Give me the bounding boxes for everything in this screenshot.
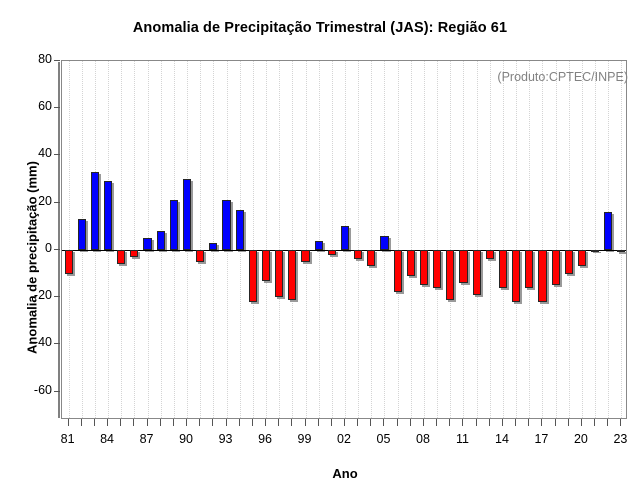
x-tick-mark <box>370 419 371 426</box>
x-tick-mark <box>252 419 253 426</box>
bar <box>236 210 244 250</box>
x-tick-mark <box>81 419 82 426</box>
y-tick-mark <box>54 202 60 203</box>
x-tick-mark <box>107 419 108 426</box>
gridline-vertical <box>69 61 70 418</box>
x-tick-mark <box>120 419 121 426</box>
page-title: Anomalia de Precipitação Trimestral (JAS… <box>0 20 640 36</box>
bar <box>565 250 573 274</box>
bar <box>315 241 323 250</box>
bar <box>143 238 151 250</box>
gridline-vertical <box>306 61 307 418</box>
bar <box>262 250 270 281</box>
y-tick-label: 40 <box>0 146 52 160</box>
gridline-vertical <box>490 61 491 418</box>
gridline-vertical <box>292 61 293 418</box>
bar <box>328 250 336 255</box>
x-tick-mark <box>357 419 358 426</box>
gridline-vertical <box>424 61 425 418</box>
bar <box>78 219 86 250</box>
x-tick-mark <box>555 419 556 426</box>
y-tick-mark <box>54 296 60 297</box>
bar <box>104 181 112 249</box>
x-tick-mark <box>94 419 95 426</box>
gridline-vertical <box>319 61 320 418</box>
x-tick-label: 11 <box>442 432 482 446</box>
bar <box>341 226 349 250</box>
x-tick-mark <box>318 419 319 426</box>
bar <box>222 200 230 250</box>
x-tick-mark <box>515 419 516 426</box>
gridline-vertical <box>266 61 267 418</box>
x-tick-mark <box>502 419 503 426</box>
gridline-vertical <box>621 61 622 418</box>
bar <box>354 250 362 259</box>
x-tick-mark <box>212 419 213 426</box>
x-tick-mark <box>278 419 279 426</box>
y-tick-mark <box>54 60 60 61</box>
gridline-vertical <box>200 61 201 418</box>
x-tick-mark <box>462 419 463 426</box>
y-axis-spine <box>58 62 60 418</box>
bar <box>249 250 257 302</box>
x-tick-label: 20 <box>561 432 601 446</box>
gridline-vertical <box>463 61 464 418</box>
bar <box>196 250 204 262</box>
bar <box>538 250 546 302</box>
bar <box>604 212 612 250</box>
x-tick-label: 05 <box>363 432 403 446</box>
y-tick-label: 60 <box>0 99 52 113</box>
gridline-vertical <box>437 61 438 418</box>
gridline-vertical <box>398 61 399 418</box>
bar <box>512 250 520 302</box>
bar <box>552 250 560 285</box>
y-tick-mark <box>54 249 60 250</box>
x-tick-mark <box>541 419 542 426</box>
x-tick-label: 81 <box>48 432 88 446</box>
bar <box>130 250 138 257</box>
gridline-vertical <box>542 61 543 418</box>
bar <box>459 250 467 283</box>
x-tick-label: 08 <box>403 432 443 446</box>
x-tick-mark <box>489 419 490 426</box>
gridline-vertical <box>503 61 504 418</box>
bar <box>525 250 533 288</box>
x-tick-mark <box>186 419 187 426</box>
bar <box>420 250 428 285</box>
gridline-vertical <box>121 61 122 418</box>
gridline-vertical <box>569 61 570 418</box>
x-tick-mark <box>265 419 266 426</box>
x-tick-mark <box>528 419 529 426</box>
gridline-vertical <box>411 61 412 418</box>
bar <box>65 250 73 274</box>
x-tick-label: 02 <box>324 432 364 446</box>
y-tick-label: 0 <box>0 241 52 255</box>
x-tick-label: 90 <box>166 432 206 446</box>
bar <box>288 250 296 300</box>
gridline-vertical <box>450 61 451 418</box>
bar-shadow <box>593 252 601 254</box>
x-tick-mark <box>449 419 450 426</box>
x-tick-label: 14 <box>482 432 522 446</box>
bar <box>486 250 494 259</box>
x-tick-mark <box>68 419 69 426</box>
y-tick-label: -40 <box>0 335 52 349</box>
x-tick-mark <box>476 419 477 426</box>
x-tick-label: 99 <box>285 432 325 446</box>
gridline-vertical <box>279 61 280 418</box>
y-tick-mark <box>54 107 60 108</box>
x-tick-label: 96 <box>245 432 285 446</box>
gridline-vertical <box>371 61 372 418</box>
x-tick-mark <box>620 419 621 426</box>
gridline-vertical <box>213 61 214 418</box>
gridline-vertical <box>134 61 135 418</box>
x-tick-mark <box>173 419 174 426</box>
bar <box>183 179 191 250</box>
bar <box>473 250 481 295</box>
gridline-vertical <box>253 61 254 418</box>
bar <box>157 231 165 250</box>
bar <box>209 243 217 250</box>
gridline-vertical <box>477 61 478 418</box>
y-tick-label: 80 <box>0 52 52 66</box>
x-tick-mark <box>594 419 595 426</box>
x-tick-label: 93 <box>206 432 246 446</box>
x-axis-label: Ano <box>60 466 630 481</box>
x-tick-mark <box>607 419 608 426</box>
x-tick-label: 23 <box>600 432 640 446</box>
x-tick-label: 84 <box>87 432 127 446</box>
bar <box>301 250 309 262</box>
y-tick-mark <box>54 343 60 344</box>
bar <box>578 250 586 267</box>
bar <box>117 250 125 264</box>
x-tick-mark <box>383 419 384 426</box>
gridline-vertical <box>582 61 583 418</box>
source-annotation: (Produto:CPTEC/INPE) <box>497 70 628 84</box>
x-tick-mark <box>344 419 345 426</box>
x-tick-mark <box>331 419 332 426</box>
x-tick-mark <box>305 419 306 426</box>
x-tick-mark <box>133 419 134 426</box>
bar <box>407 250 415 276</box>
bar <box>499 250 507 288</box>
x-tick-mark <box>239 419 240 426</box>
x-tick-mark <box>199 419 200 426</box>
x-tick-label: 17 <box>521 432 561 446</box>
gridline-vertical <box>529 61 530 418</box>
chart-figure: Anomalia de Precipitação Trimestral (JAS… <box>0 0 640 500</box>
y-tick-mark <box>54 154 60 155</box>
x-tick-label: 87 <box>127 432 167 446</box>
bar <box>275 250 283 297</box>
x-tick-mark <box>291 419 292 426</box>
plot-area <box>61 60 627 419</box>
gridline-vertical <box>556 61 557 418</box>
bar <box>433 250 441 288</box>
y-tick-mark <box>54 391 60 392</box>
bar <box>617 250 625 252</box>
gridline-vertical <box>358 61 359 418</box>
y-tick-label: 20 <box>0 194 52 208</box>
x-tick-mark <box>397 419 398 426</box>
gridline-vertical <box>332 61 333 418</box>
bar <box>394 250 402 293</box>
bar <box>367 250 375 267</box>
bar <box>380 236 388 250</box>
y-tick-label: -60 <box>0 383 52 397</box>
bar <box>91 172 99 250</box>
x-tick-mark <box>147 419 148 426</box>
bar <box>591 250 599 252</box>
y-tick-label: -20 <box>0 288 52 302</box>
bar <box>446 250 454 300</box>
x-tick-mark <box>423 419 424 426</box>
bar <box>170 200 178 250</box>
x-tick-mark <box>436 419 437 426</box>
x-tick-mark <box>581 419 582 426</box>
x-tick-mark <box>160 419 161 426</box>
x-tick-mark <box>226 419 227 426</box>
gridline-vertical <box>595 61 596 418</box>
x-tick-mark <box>410 419 411 426</box>
x-tick-mark <box>568 419 569 426</box>
gridline-vertical <box>516 61 517 418</box>
